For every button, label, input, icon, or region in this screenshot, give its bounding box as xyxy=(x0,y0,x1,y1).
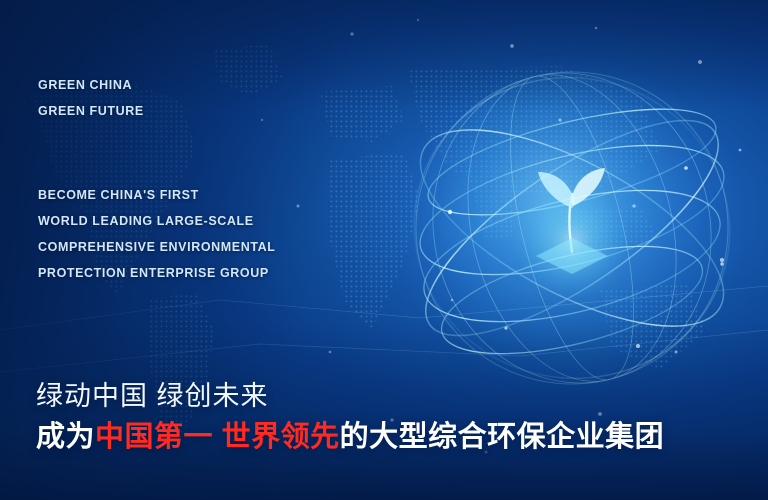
english-body-block: BECOME CHINA'S FIRST WORLD LEADING LARGE… xyxy=(38,182,276,286)
chinese-headline-block: 绿动中国 绿创未来 成为中国第一 世界领先的大型综合环保企业集团 xyxy=(36,376,664,458)
english-body-line-1: BECOME CHINA'S FIRST xyxy=(38,182,276,208)
english-body-line-4: PROTECTION ENTERPRISE GROUP xyxy=(38,260,276,286)
english-body-line-3: COMPREHENSIVE ENVIRONMENTAL xyxy=(38,234,276,260)
chinese-headline-line-1: 绿动中国 绿创未来 xyxy=(36,376,664,416)
english-body-line-2: WORLD LEADING LARGE-SCALE xyxy=(38,208,276,234)
english-title-line-2: GREEN FUTURE xyxy=(38,98,144,124)
english-title-block: GREEN CHINA GREEN FUTURE xyxy=(38,72,144,124)
chinese-headline-suffix: 的大型综合环保企业集团 xyxy=(340,421,665,453)
chinese-headline-highlight: 中国第一 世界领先 xyxy=(95,421,340,453)
hero-banner: GREEN CHINA GREEN FUTURE BECOME CHINA'S … xyxy=(0,0,768,500)
chinese-headline-line-2: 成为中国第一 世界领先的大型综合环保企业集团 xyxy=(36,416,664,458)
english-title-line-1: GREEN CHINA xyxy=(38,72,144,98)
chinese-headline-prefix: 成为 xyxy=(36,421,95,453)
